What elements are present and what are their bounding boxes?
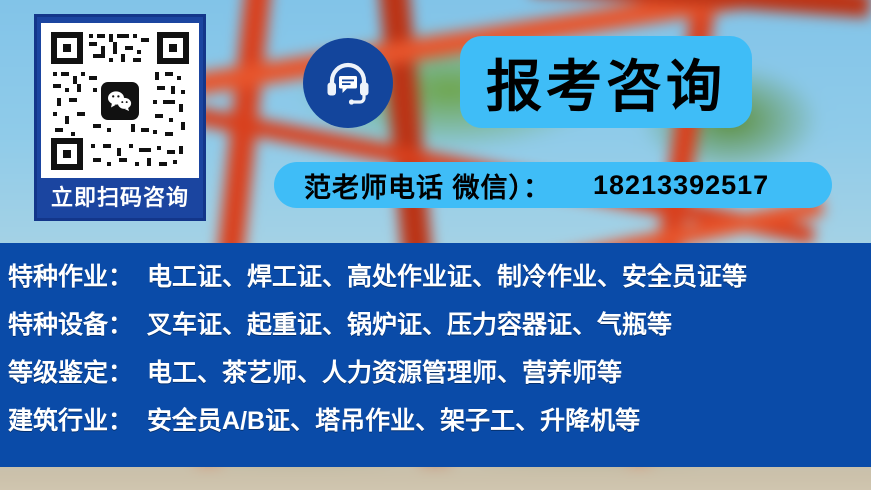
category-value: 电工、茶艺师、人力资源管理师、营养师等 — [147, 353, 622, 389]
title-badge: 报考咨询 — [460, 36, 752, 128]
category-value: 叉车证、起重证、锅炉证、压力容器证、气瓶等 — [147, 305, 672, 341]
wechat-icon — [101, 82, 139, 120]
contact-phone-number[interactable]: 18213392517 — [593, 170, 769, 201]
category-label: 建筑行业： — [8, 401, 133, 437]
headset-support-icon — [303, 38, 393, 128]
qr-code-label: 立即扫码咨询 — [43, 178, 197, 218]
category-row-special-operations: 特种作业： 电工证、焊工证、高处作业证、制冷作业、安全员证等 — [0, 257, 871, 305]
certificate-categories-panel: 特种作业： 电工证、焊工证、高处作业证、制冷作业、安全员证等 特种设备： 叉车证… — [0, 243, 871, 467]
category-row-construction-industry: 建筑行业： 安全员A/B证、塔吊作业、架子工、升降机等 — [0, 401, 871, 449]
qr-code-matrix — [47, 28, 193, 174]
category-label: 等级鉴定： — [8, 353, 133, 389]
contact-label: 范老师电话 微信）： — [304, 166, 551, 205]
contact-badge[interactable]: 范老师电话 微信）： 18213392517 — [274, 162, 832, 208]
category-row-special-equipment: 特种设备： 叉车证、起重证、锅炉证、压力容器证、气瓶等 — [0, 305, 871, 353]
category-value: 电工证、焊工证、高处作业证、制冷作业、安全员证等 — [147, 257, 747, 293]
qr-finder-bottom-left — [51, 138, 83, 170]
category-value: 安全员A/B证、塔吊作业、架子工、升降机等 — [147, 401, 640, 437]
category-label: 特种设备： — [8, 305, 133, 341]
category-label: 特种作业： — [8, 257, 133, 293]
qr-finder-top-right — [157, 32, 189, 64]
qr-code-card[interactable]: 立即扫码咨询 — [34, 14, 206, 221]
category-row-grade-appraisal: 等级鉴定： 电工、茶艺师、人力资源管理师、营养师等 — [0, 353, 871, 401]
promo-poster: 立即扫码咨询 报考咨询 范老师电话 微信）： 18213392517 特种作业：… — [0, 0, 871, 490]
qr-finder-top-left — [51, 32, 83, 64]
qr-code-image[interactable] — [41, 23, 199, 178]
